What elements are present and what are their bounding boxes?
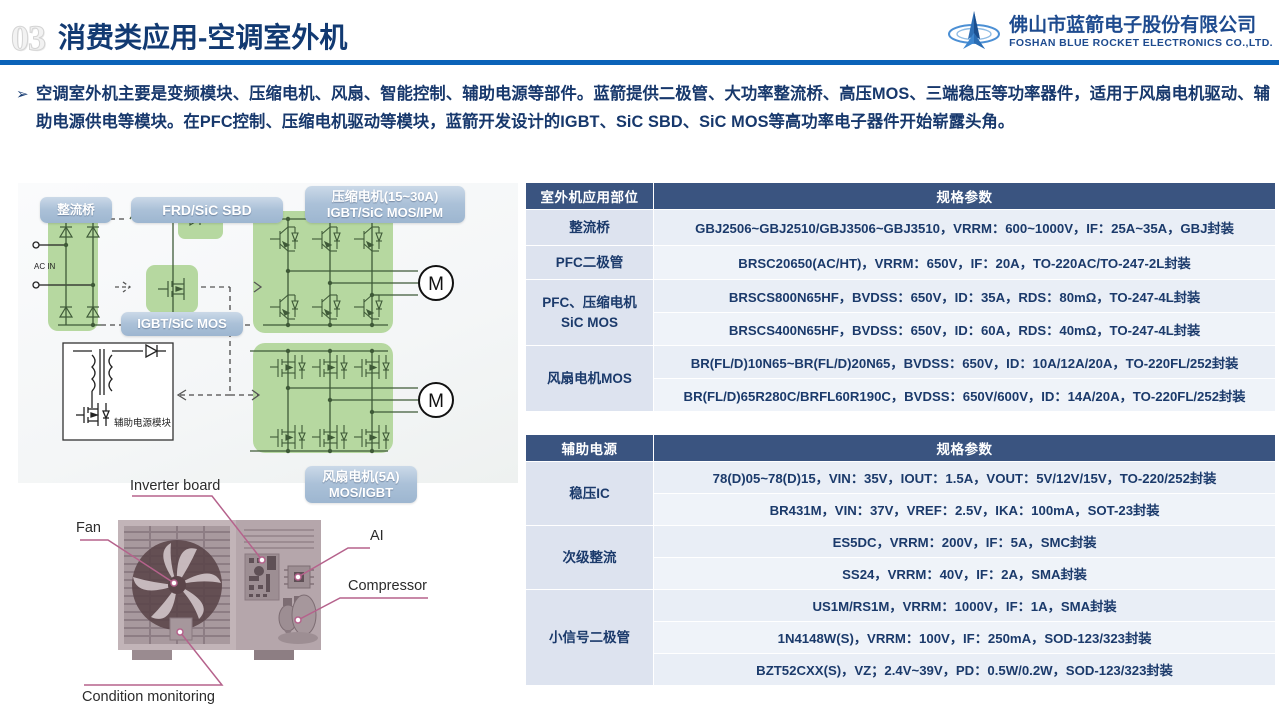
col-header-spec: 规格参数	[654, 183, 1276, 210]
callout-inverter-board: Inverter board	[130, 478, 220, 494]
chip-igbt-sic-mos: IGBT/SiC MOS	[121, 312, 243, 336]
page-header: 03 消费类应用-空调室外机 佛山市蓝箭电子股份有限公司 FOSHAN BLUE…	[0, 0, 1279, 66]
intro-text: 空调室外机主要是变频模块、压缩电机、风扇、智能控制、辅助电源等部件。蓝箭提供二极…	[36, 80, 1270, 136]
callout-ai: AI	[370, 528, 384, 544]
cell-part: PFC二极管	[526, 246, 654, 280]
cell-part-line1: 次级整流	[530, 548, 649, 568]
outdoor-unit-illustration: Inverter board Fan AI Compressor Conditi…	[40, 470, 500, 715]
cell-part: 风扇电机MOS	[526, 346, 654, 412]
cell-spec: 1N4148W(S)，VRRM：100V，IF：250mA，SOD-123/32…	[654, 622, 1276, 654]
svg-text:AC IN: AC IN	[34, 262, 56, 271]
company-logo: 佛山市蓝箭电子股份有限公司 FOSHAN BLUE ROCKET ELECTRO…	[947, 8, 1273, 56]
page-title: 消费类应用-空调室外机	[58, 16, 347, 56]
chip-label-line2: IGBT/SiC MOS/IPM	[327, 205, 443, 220]
logo-company-en: FOSHAN BLUE ROCKET ELECTRONICS CO.,LTD.	[1009, 38, 1273, 49]
callout-compressor: Compressor	[348, 578, 427, 594]
cell-part-line1: 稳压IC	[530, 484, 649, 504]
table-row: 整流桥 GBJ2506~GBJ2510/GBJ3506~GBJ3510，VRRM…	[526, 210, 1276, 246]
callout-condition-monitoring: Condition monitoring	[82, 689, 215, 705]
cell-spec: GBJ2506~GBJ2510/GBJ3506~GBJ3510，VRRM：600…	[654, 210, 1276, 246]
logo-text: 佛山市蓝箭电子股份有限公司 FOSHAN BLUE ROCKET ELECTRO…	[1009, 16, 1273, 49]
svg-text:M: M	[428, 274, 444, 295]
cell-spec: 78(D)05~78(D)15，VIN：35V，IOUT：1.5A，VOUT：5…	[654, 462, 1276, 494]
diagram-circuit-svg: .gb{fill:#b6d8a0;} .wire{stroke:#3f5a38;…	[18, 183, 518, 483]
chip-label: IGBT/SiC MOS	[137, 316, 227, 331]
intro-bullet: ➢ 空调室外机主要是变频模块、压缩电机、风扇、智能控制、辅助电源等部件。蓝箭提供…	[10, 80, 1270, 136]
outdoor-unit-svg	[40, 470, 500, 715]
svg-text:辅助电源模块: 辅助电源模块	[114, 417, 172, 429]
col-header-part: 室外机应用部位	[526, 183, 654, 210]
cell-spec: BZT52CXX(S)，VZ；2.4V~39V，PD：0.5W/0.2W，SOD…	[654, 654, 1276, 686]
header-divider	[0, 60, 1279, 65]
chip-frd-sic-sbd: FRD/SiC SBD	[131, 197, 283, 223]
cell-spec: BRSCS400N65HF，BVDSS：650V，ID：60A，RDS：40mΩ…	[654, 313, 1276, 346]
table-header-row: 室外机应用部位 规格参数	[526, 183, 1276, 210]
table-row: 风扇电机MOS BR(FL/D)10N65~BR(FL/D)20N65，BVDS…	[526, 346, 1276, 379]
chip-label: FRD/SiC SBD	[162, 202, 251, 218]
col-header-part: 辅助电源	[526, 435, 654, 462]
chip-label: 整流桥	[57, 203, 95, 218]
cell-spec: BRSC20650(AC/HT)，VRRM：650V，IF：20A，TO-220…	[654, 246, 1276, 280]
outdoor-unit-spec-table: 室外机应用部位 规格参数 整流桥 GBJ2506~GBJ2510/GBJ3506…	[525, 182, 1276, 412]
cell-spec: ES5DC，VRRM：200V，IF：5A，SMC封装	[654, 526, 1276, 558]
cell-part-line1: 风扇电机MOS	[530, 369, 649, 389]
cell-spec: US1M/RS1M，VRRM：1000V，IF：1A，SMA封装	[654, 590, 1276, 622]
cell-part: 整流桥	[526, 210, 654, 246]
cell-spec: BRSCS800N65HF，BVDSS：650V，ID：35A，RDS：80mΩ…	[654, 280, 1276, 313]
chip-label-line1: 压缩电机(15~30A)	[332, 189, 439, 204]
cell-spec: BR431M，VIN：37V，VREF：2.5V，IKA：100mA，SOT-2…	[654, 494, 1276, 526]
logo-company-cn: 佛山市蓝箭电子股份有限公司	[1009, 16, 1273, 35]
block-diagram: .gb{fill:#b6d8a0;} .wire{stroke:#3f5a38;…	[18, 183, 518, 483]
chip-rectifier-bridge: 整流桥	[40, 197, 112, 223]
table-row: 稳压IC 78(D)05~78(D)15，VIN：35V，IOUT：1.5A，V…	[526, 462, 1276, 494]
cell-part-line1: PFC、压缩电机	[530, 293, 649, 313]
table-row: 小信号二极管 US1M/RS1M，VRRM：1000V，IF：1A，SMA封装	[526, 590, 1276, 622]
table-row: PFC、压缩电机 SiC MOS BRSCS800N65HF，BVDSS：650…	[526, 280, 1276, 313]
cell-spec: SS24，VRRM：40V，IF：2A，SMA封装	[654, 558, 1276, 590]
cell-part-line1: 小信号二极管	[530, 628, 649, 648]
cell-spec: BR(FL/D)65R280C/BRFL60R190C，BVDSS：650V/6…	[654, 379, 1276, 412]
svg-text:M: M	[428, 391, 444, 412]
section-number: 03	[11, 17, 45, 59]
cell-part: 稳压IC	[526, 462, 654, 526]
bullet-marker-icon: ➢	[16, 85, 29, 103]
col-header-spec: 规格参数	[654, 435, 1276, 462]
cell-part-line2: SiC MOS	[530, 313, 649, 333]
blue-rocket-logo-icon	[947, 9, 1001, 55]
cell-spec: BR(FL/D)10N65~BR(FL/D)20N65，BVDSS：650V，I…	[654, 346, 1276, 379]
aux-power-spec-table: 辅助电源 规格参数 稳压IC 78(D)05~78(D)15，VIN：35V，I…	[525, 434, 1276, 686]
cell-part: PFC、压缩电机 SiC MOS	[526, 280, 654, 346]
chip-compressor-motor: 压缩电机(15~30A) IGBT/SiC MOS/IPM	[305, 186, 465, 223]
cell-part: 次级整流	[526, 526, 654, 590]
cell-part: 小信号二极管	[526, 590, 654, 686]
callout-fan: Fan	[76, 520, 101, 536]
table-header-row: 辅助电源 规格参数	[526, 435, 1276, 462]
table-row: PFC二极管 BRSC20650(AC/HT)，VRRM：650V，IF：20A…	[526, 246, 1276, 280]
table-row: 次级整流 ES5DC，VRRM：200V，IF：5A，SMC封装	[526, 526, 1276, 558]
